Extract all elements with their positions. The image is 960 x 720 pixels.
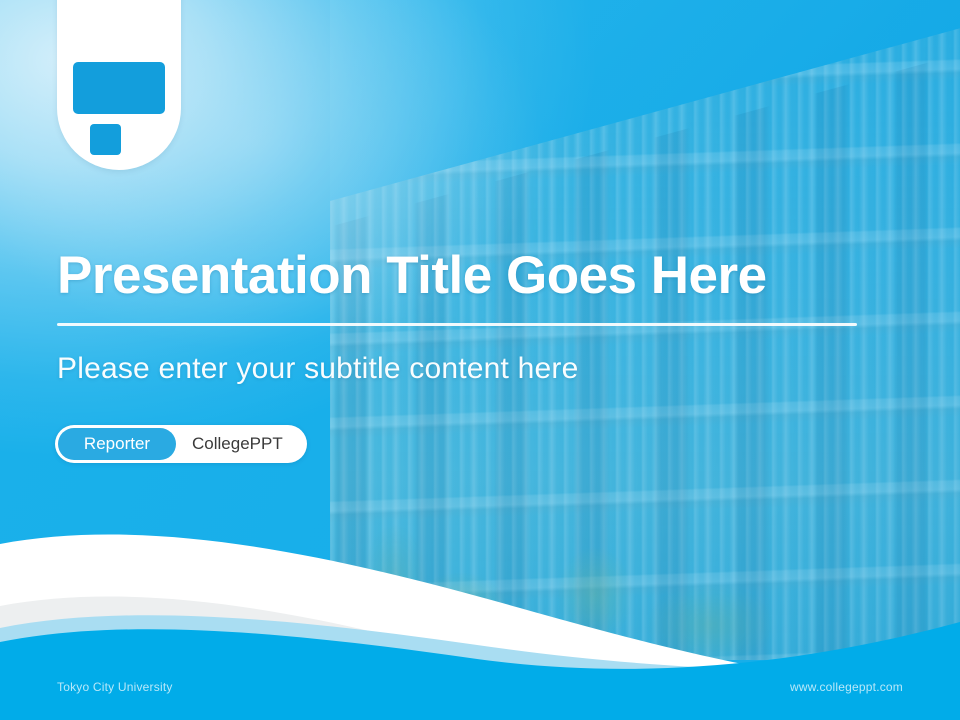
reporter-value: CollegePPT (176, 428, 303, 460)
page-title: Presentation Title Goes Here (57, 247, 917, 305)
reporter-badge[interactable]: Reporter CollegePPT (55, 425, 307, 463)
page-subtitle: Please enter your subtitle content here (57, 352, 578, 386)
footer-organization: Tokyo City University (57, 680, 173, 694)
footer-website[interactable]: www.collegeppt.com (790, 680, 903, 694)
university-logo[interactable] (57, 0, 181, 170)
title-divider (57, 323, 857, 326)
reporter-label: Reporter (58, 428, 176, 460)
logo-square-icon (90, 124, 121, 155)
logo-bar-icon (73, 62, 165, 114)
presentation-slide: Presentation Title Goes Here Please ente… (0, 0, 960, 720)
